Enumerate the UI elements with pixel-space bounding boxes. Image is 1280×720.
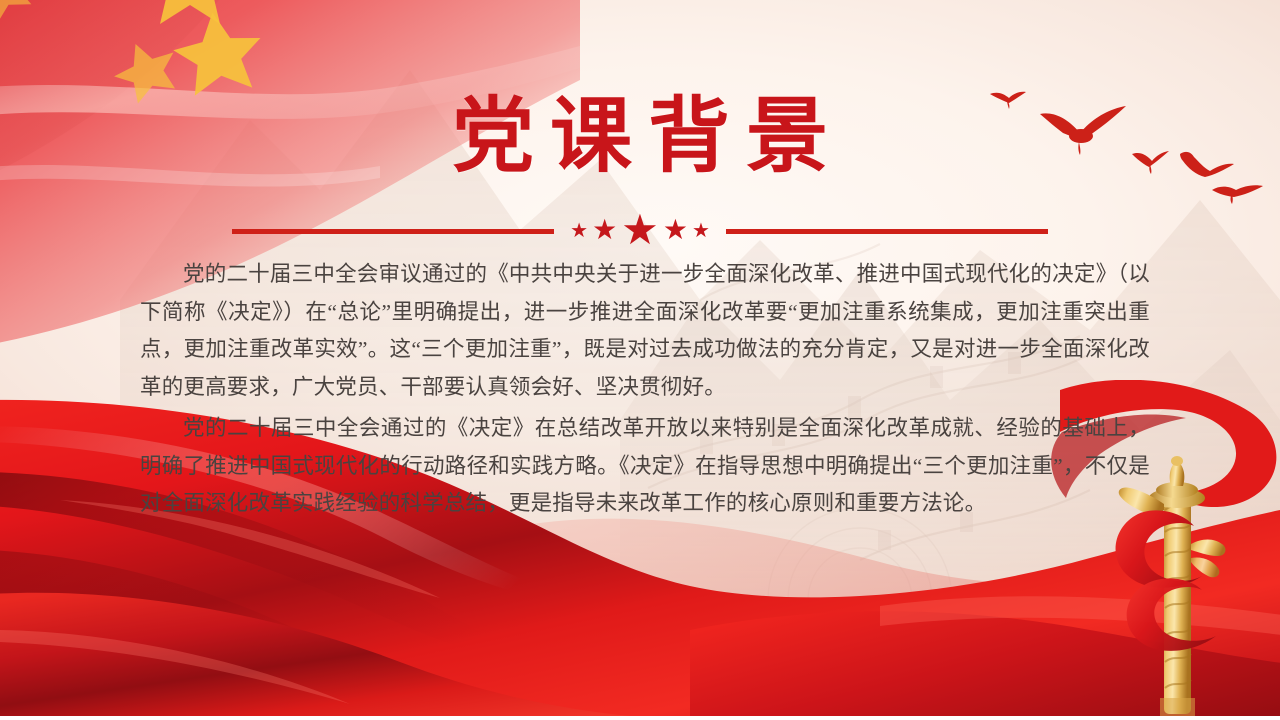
title-divider: ★ ★ ★ ★ ★	[0, 213, 1280, 249]
page-title-block: 党课背景	[0, 92, 1280, 182]
page-title: 党课背景	[436, 92, 844, 182]
paragraph-1: 党的二十届三中全会审议通过的《中共中央关于进一步全面深化改革、推进中国式现代化的…	[140, 256, 1150, 406]
body-copy: 党的二十届三中全会审议通过的《中共中央关于进一步全面深化改革、推进中国式现代化的…	[140, 256, 1150, 525]
divider-line-right	[726, 229, 1048, 234]
star-icon-5: ★	[692, 221, 710, 241]
star-icon-2: ★	[592, 217, 617, 245]
star-icon-4: ★	[663, 217, 688, 245]
paragraph-2: 党的二十届三中全会通过的《决定》在总结改革开放以来特别是全面深化改革成就、经验的…	[140, 410, 1150, 523]
bottom-strip	[0, 716, 1280, 720]
star-icon-3: ★	[621, 210, 659, 252]
star-icon-1: ★	[570, 221, 588, 241]
divider-stars: ★ ★ ★ ★ ★	[554, 210, 726, 252]
slide-canvas: 党的二十届三中全会审议通过的《中共中央关于进一步全面深化改革、推进中国式现代化的…	[0, 0, 1280, 720]
divider-line-left	[232, 229, 554, 234]
